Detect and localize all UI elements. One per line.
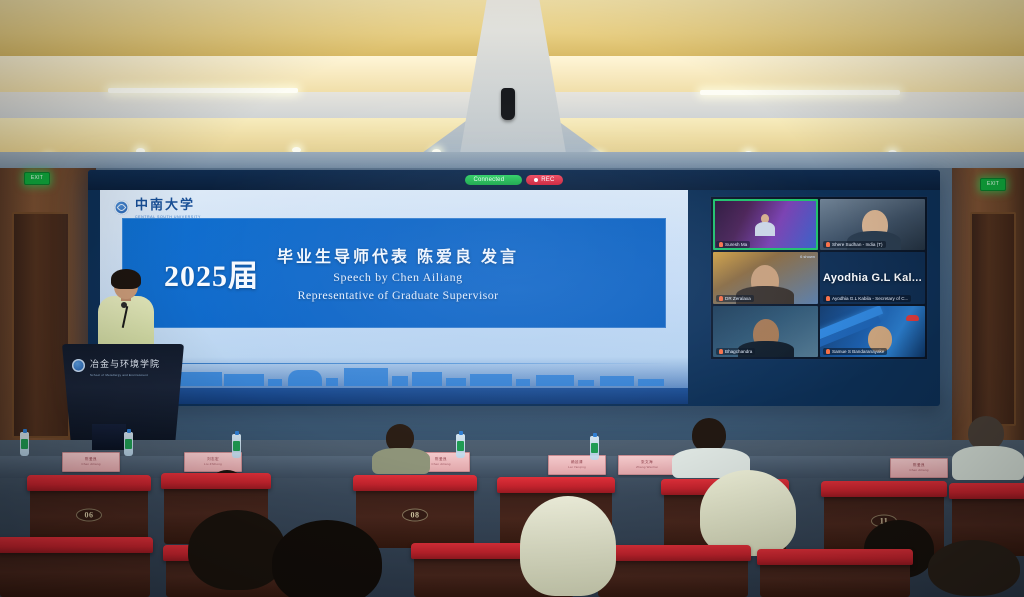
video-tile[interactable]: Bhagchandra xyxy=(713,306,818,357)
projection-screen[interactable]: Connected REC 中南大学 CENTRAL SOUTH UNIVERS… xyxy=(88,170,940,406)
seat-number: 06 xyxy=(76,508,102,521)
connection-status-pill: Connected xyxy=(465,175,522,185)
podium-sign-en: School of Metallurgy and Environment xyxy=(90,374,160,377)
microphone-icon xyxy=(719,242,723,247)
attendee xyxy=(700,470,796,556)
slide-footer-bar xyxy=(100,388,688,404)
recording-badge-label: REC xyxy=(541,177,554,183)
seat-number: 08 xyxy=(402,508,428,521)
water-bottle xyxy=(590,436,599,460)
slide-title-cn: 毕业生导师代表 陈爱良 发言 xyxy=(277,243,519,267)
video-tile-label: Bhagchandra xyxy=(716,348,755,355)
water-bottle xyxy=(232,434,241,458)
screen-status-bar: Connected REC xyxy=(88,170,940,190)
water-bottle xyxy=(124,432,133,456)
attendee xyxy=(268,520,388,597)
presentation-slide: 中南大学 CENTRAL SOUTH UNIVERSITY 2025届 毕业生导… xyxy=(100,190,688,404)
microphone-icon xyxy=(121,302,127,308)
nameplate: 陈爱良 Chen Ailiang xyxy=(62,452,120,472)
front-table xyxy=(0,456,1024,478)
door-right[interactable] xyxy=(970,212,1016,426)
nameplate: 张文海 Zhang Wenhai xyxy=(618,455,676,475)
ceiling-projector xyxy=(501,88,515,120)
video-tile[interactable]: 6 shown DR Zeralaxa xyxy=(713,252,818,303)
slide-year: 2025届 xyxy=(164,251,259,295)
attendee xyxy=(372,424,430,468)
video-tile-label: DR Zeralaxa xyxy=(716,295,754,302)
microphone-icon xyxy=(826,296,830,301)
slide-title-panel: 2025届 毕业生导师代表 陈爱良 发言 Speech by Chen Aili… xyxy=(122,218,666,328)
csu-emblem-icon xyxy=(72,359,85,372)
ceiling-strip-light xyxy=(700,90,900,95)
microphone-icon xyxy=(826,349,830,354)
slide-titles: 毕业生导师代表 陈爱良 发言 Speech by Chen Ailiang Re… xyxy=(277,243,519,303)
video-tile-label: Ayodhia G.L Kabila - Secretary of C... xyxy=(823,295,911,302)
slide-title-en-2: Representative of Graduate Supervisor xyxy=(297,288,498,303)
record-dot-icon xyxy=(534,178,538,182)
video-tile[interactable]: Samue S Bandaranayake xyxy=(820,306,925,357)
microphone-icon xyxy=(826,242,830,247)
presenter xyxy=(96,272,156,352)
microphone-icon xyxy=(719,349,723,354)
door-left[interactable] xyxy=(12,212,70,438)
attendee xyxy=(672,418,750,470)
auditorium-scene: EXIT EXIT Connected REC 中南大学 CENTRAL SOU… xyxy=(0,0,1024,597)
auditorium-seat[interactable] xyxy=(0,548,150,597)
auditorium-seat[interactable] xyxy=(760,560,910,597)
csu-emblem-icon xyxy=(114,200,129,215)
exit-sign-right-label: EXIT xyxy=(987,182,999,187)
slide-title-en-1: Speech by Chen Ailiang xyxy=(333,270,463,285)
ceiling xyxy=(0,0,1024,172)
video-tile[interactable]: Ayodhia G.L Kal... Ayodhia G.L Kabila - … xyxy=(820,252,925,303)
attendee xyxy=(952,416,1024,472)
exit-sign-left-label: EXIT xyxy=(31,176,43,181)
microphone-icon xyxy=(719,296,723,301)
recording-badge: REC xyxy=(526,175,562,185)
podium-base xyxy=(92,424,126,450)
attendee xyxy=(520,496,616,596)
video-tile[interactable]: Suresh Ma xyxy=(713,199,818,250)
auditorium-seat[interactable] xyxy=(598,556,748,597)
attendee xyxy=(928,540,1024,597)
video-grid-count: 6 shown xyxy=(800,254,815,259)
video-conference-grid[interactable]: Suresh Ma Shere Sudhan - India (T) 6 sho… xyxy=(710,196,928,360)
nameplate: 陈爱良 Chen Ailiang xyxy=(890,458,948,478)
presenter-hair xyxy=(111,269,141,289)
university-name-cn: 中南大学 xyxy=(135,197,195,212)
video-tile-label: Suresh Ma xyxy=(716,241,750,248)
podium-sign-cn: 冶金与环境学院 xyxy=(90,359,160,369)
logo-mark-icon xyxy=(906,315,919,321)
video-tile-label: Samue S Bandaranayake xyxy=(823,348,887,355)
slide-skyline-graphic xyxy=(118,362,670,386)
video-tile-label: Shere Sudhan - India (T) xyxy=(823,241,886,248)
exit-sign-icon: EXIT xyxy=(980,178,1006,191)
podium-sign: 冶金与环境学院 School of Metallurgy and Environ… xyxy=(72,354,160,377)
slide-logo: 中南大学 CENTRAL SOUTH UNIVERSITY xyxy=(114,196,201,220)
ceiling-strip-light xyxy=(108,88,298,93)
water-bottle xyxy=(456,434,465,458)
exit-sign-icon: EXIT xyxy=(24,172,50,185)
water-bottle xyxy=(20,432,29,456)
video-tile-display-name: Ayodhia G.L Kal... xyxy=(820,272,925,284)
video-tile[interactable]: Shere Sudhan - India (T) xyxy=(820,199,925,250)
